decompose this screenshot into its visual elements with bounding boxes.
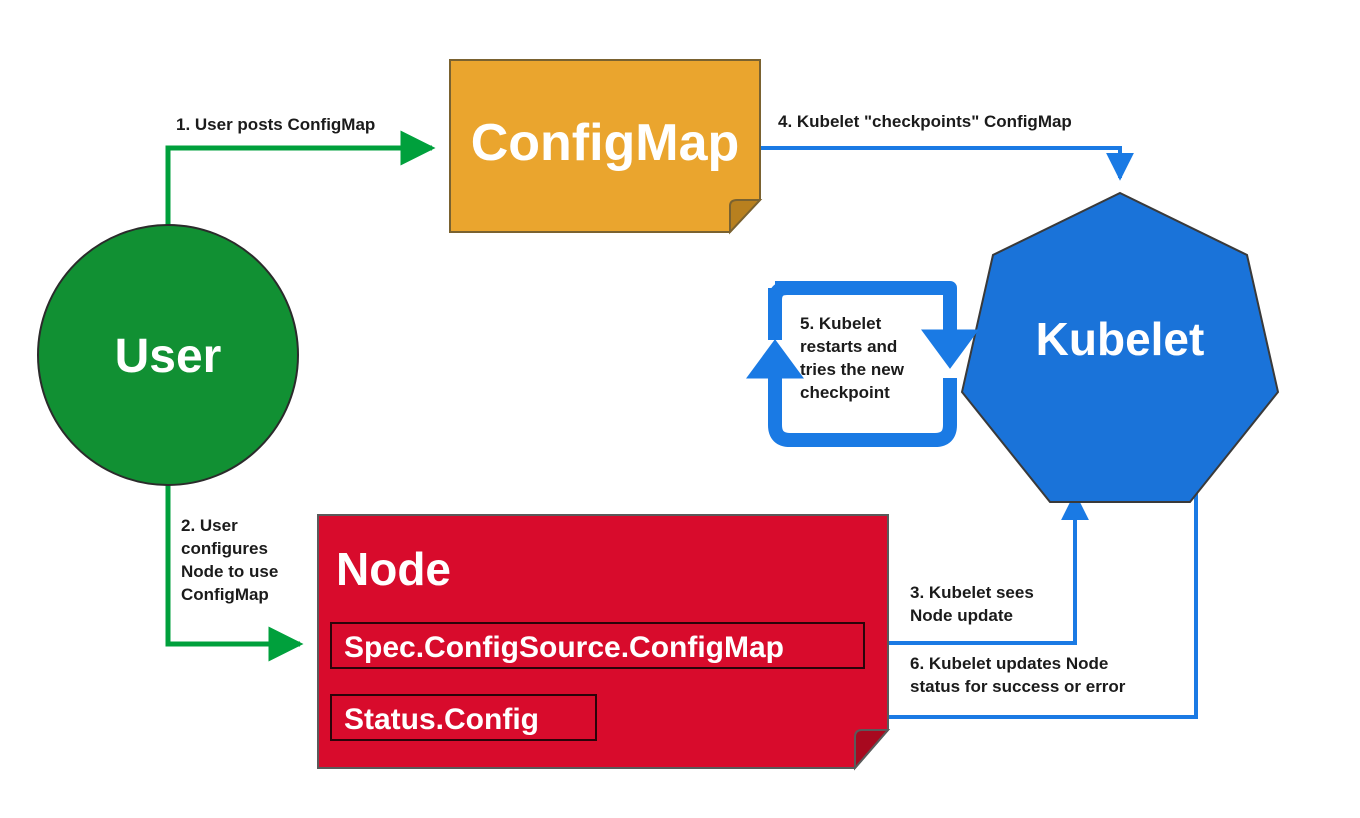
configmap-fold-corner: [730, 200, 760, 232]
step-4-label: 4. Kubelet "checkpoints" ConfigMap: [778, 112, 1072, 131]
step-4-label-line-1: 4. Kubelet "checkpoints" ConfigMap: [778, 112, 1072, 131]
step-3-label: 3. Kubelet sees Node update: [910, 583, 1034, 625]
step-2-label-line-4: ConfigMap: [181, 585, 269, 604]
arrow-step-4-path: [760, 148, 1120, 178]
step-6-label: 6. Kubelet updates Node status for succe…: [910, 654, 1126, 696]
step-5-label: 5. Kubelet restarts and tries the new ch…: [800, 314, 905, 402]
loop-arrowhead-up: [747, 340, 803, 378]
kubelet-config-flow-diagram: ConfigMap User Kubelet: [0, 0, 1360, 818]
step-3-label-line-2: Node update: [910, 606, 1013, 625]
step-1-label-line-1: 1. User posts ConfigMap: [176, 115, 375, 134]
kubelet-label: Kubelet: [1036, 313, 1205, 365]
status-field-label: Status.Config: [344, 703, 539, 736]
node-label: Node: [336, 543, 451, 595]
step-6-label-line-1: 6. Kubelet updates Node: [910, 654, 1108, 673]
step-2-label-line-3: Node to use: [181, 562, 278, 581]
step-2-label-line-1: 2. User: [181, 516, 238, 535]
loop-corner-tl: [775, 288, 787, 300]
spec-field-label: Spec.ConfigSource.ConfigMap: [344, 631, 784, 664]
step-2-label-line-2: configures: [181, 539, 268, 558]
user-label: User: [115, 330, 222, 383]
step-3-label-line-1: 3. Kubelet sees: [910, 583, 1034, 602]
step-6-label-line-2: status for success or error: [910, 677, 1126, 696]
step-5-label-line-1: 5. Kubelet: [800, 314, 882, 333]
diagram-canvas: ConfigMap User Kubelet: [0, 0, 1360, 818]
node-node[interactable]: Node Spec.ConfigSource.ConfigMap Status.…: [318, 515, 888, 768]
step-1-label: 1. User posts ConfigMap: [176, 115, 375, 134]
configmap-label: ConfigMap: [471, 114, 740, 172]
arrow-step-4: [760, 148, 1120, 178]
step-5-label-line-2: restarts and: [800, 337, 897, 356]
user-node[interactable]: User: [38, 225, 298, 485]
configmap-node[interactable]: ConfigMap: [450, 60, 760, 232]
kubelet-node[interactable]: Kubelet: [962, 193, 1278, 502]
step-2-label: 2. User configures Node to use ConfigMap: [181, 516, 278, 604]
node-fold-corner: [855, 730, 888, 768]
step-5-label-line-3: tries the new: [800, 360, 905, 379]
step-5-label-line-4: checkpoint: [800, 383, 890, 402]
